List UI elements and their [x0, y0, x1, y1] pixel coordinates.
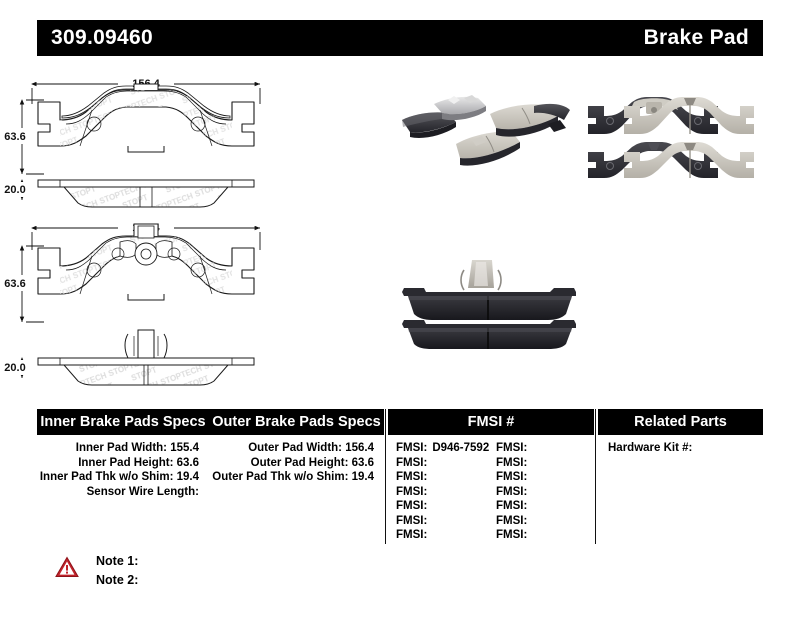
fmsi-row: FMSI:: [496, 441, 532, 456]
fmsi-row: FMSI:: [396, 499, 489, 514]
spec-row: Outer Pad Height: 63.6: [209, 456, 384, 471]
note-line-1: Note 1:: [96, 552, 138, 571]
fmsi-row: FMSI:: [396, 456, 489, 471]
spec-row: Outer Pad Width: 156.4: [209, 441, 384, 456]
spec-label: Inner Pad Width:: [76, 442, 167, 454]
notes-section: Note 1: Note 2:: [55, 552, 455, 598]
warning-triangle-icon: [55, 556, 79, 578]
spec-row: Inner Pad Thk w/o Shim: 19.4: [37, 470, 209, 485]
spec-value: 19.4: [352, 471, 374, 483]
fmsi-row: FMSI:: [496, 470, 532, 485]
spec-row: Inner Pad Width: 155.4: [37, 441, 209, 456]
spec-row: Sensor Wire Length:: [37, 485, 209, 500]
brake-pad-spec-sheet: 309.09460 Brake Pad STOPTECH STOPTECH 15…: [0, 0, 800, 619]
fmsi-label: FMSI:: [396, 470, 427, 485]
inner-specs-column: Inner Pad Width: 155.4 Inner Pad Height:…: [37, 441, 209, 499]
spec-row: Inner Pad Height: 63.6: [37, 456, 209, 471]
fmsi-row: FMSI:: [496, 499, 532, 514]
fmsi-label: FMSI:: [496, 441, 527, 456]
column-header-outer-specs: Outer Brake Pads Specs: [209, 409, 384, 435]
spec-table-header-row: Inner Brake Pads Specs Outer Brake Pads …: [37, 409, 763, 435]
fmsi-label: FMSI:: [396, 499, 427, 514]
spec-table: Inner Brake Pads Specs Outer Brake Pads …: [37, 409, 763, 544]
inner-pad-outline: [38, 224, 254, 300]
spec-label: Outer Pad Thk w/o Shim:: [212, 471, 348, 483]
product-photo-edge-stack: [390, 242, 590, 352]
product-photo-angled-group: [398, 80, 578, 190]
outer-pad-side-view: [38, 180, 254, 207]
column-header-related-parts: Related Parts: [598, 409, 763, 435]
column-header-inner-specs: Inner Brake Pads Specs: [37, 409, 209, 435]
fmsi-subcolumn-b: FMSI: FMSI: FMSI: FMSI: FMSI: FMSI: FMSI…: [496, 441, 532, 543]
fmsi-value: D946-7592: [432, 441, 489, 456]
pad-edge-upper: [402, 288, 576, 320]
fmsi-label: FMSI:: [496, 470, 527, 485]
outer-specs-column: Outer Pad Width: 156.4 Outer Pad Height:…: [209, 441, 384, 485]
fmsi-row: FMSI:: [496, 514, 532, 529]
spec-value: 19.4: [177, 471, 199, 483]
product-photo-pad-grid: [582, 80, 767, 190]
fmsi-label: FMSI:: [496, 514, 527, 529]
fmsi-row: FMSI:: [396, 528, 489, 543]
outer-pad-technical-drawing: STOPTECH STOPTECH 156.4 63.6: [0, 62, 400, 222]
spec-label: Outer Pad Width:: [248, 442, 342, 454]
related-part-row: Hardware Kit #:: [598, 441, 763, 456]
fmsi-row: FMSI:: [496, 485, 532, 500]
fmsi-row: FMSI:: [496, 456, 532, 471]
part-number: 309.09460: [51, 26, 153, 50]
related-label: Hardware Kit #:: [608, 442, 692, 454]
illustrations-area: STOPTECH STOPTECH 156.4 63.6: [0, 62, 800, 392]
outer-height-label: 63.6: [4, 131, 25, 143]
header-bar: 309.09460 Brake Pad: [37, 20, 763, 56]
related-parts-column: Hardware Kit #:: [598, 441, 763, 456]
pad-edge-lower: [402, 320, 576, 349]
fmsi-row: FMSI:: [396, 514, 489, 529]
fmsi-label: FMSI:: [396, 456, 427, 471]
spec-value: 63.6: [352, 457, 374, 469]
fmsi-label: FMSI:: [496, 528, 527, 543]
note-lines: Note 1: Note 2:: [96, 552, 138, 590]
fmsi-row: FMSI:: [496, 528, 532, 543]
inner-thickness-label: 20.0: [4, 362, 25, 374]
fmsi-label: FMSI:: [396, 528, 427, 543]
fmsi-label: FMSI:: [396, 514, 427, 529]
product-type: Brake Pad: [644, 26, 749, 50]
fmsi-row: FMSI:: [396, 485, 489, 500]
spec-label: Sensor Wire Length:: [87, 486, 199, 498]
fmsi-row: FMSI:D946-7592: [396, 441, 489, 456]
spec-row: Outer Pad Thk w/o Shim: 19.4: [209, 470, 384, 485]
inner-pad-technical-drawing: STOPTECH STOPTECH 155.4 63.6: [0, 210, 400, 395]
spec-table-body: Inner Pad Width: 155.4 Inner Pad Height:…: [37, 435, 763, 544]
outer-pad-outline: [38, 84, 254, 152]
spec-value: 156.4: [345, 442, 374, 454]
fmsi-label: FMSI:: [396, 485, 427, 500]
spec-value: 155.4: [170, 442, 199, 454]
spec-value: 63.6: [177, 457, 199, 469]
wear-sensor-clip-photo: [461, 260, 501, 290]
inner-pad-side-view: [38, 330, 254, 385]
note-line-2: Note 2:: [96, 571, 138, 590]
outer-thickness-label: 20.0: [4, 184, 25, 196]
spec-label: Inner Pad Height:: [78, 457, 173, 469]
fmsi-row: FMSI:: [396, 470, 489, 485]
fmsi-subcolumn-a: FMSI:D946-7592 FMSI: FMSI: FMSI: FMSI: F…: [396, 441, 489, 543]
fmsi-label: FMSI:: [496, 456, 527, 471]
inner-height-label: 63.6: [4, 278, 25, 290]
column-header-fmsi: FMSI #: [388, 409, 594, 435]
fmsi-label: FMSI:: [496, 485, 527, 500]
spec-label: Inner Pad Thk w/o Shim:: [40, 471, 174, 483]
fmsi-label: FMSI:: [396, 441, 427, 456]
spec-label: Outer Pad Height:: [251, 457, 349, 469]
fmsi-label: FMSI:: [496, 499, 527, 514]
